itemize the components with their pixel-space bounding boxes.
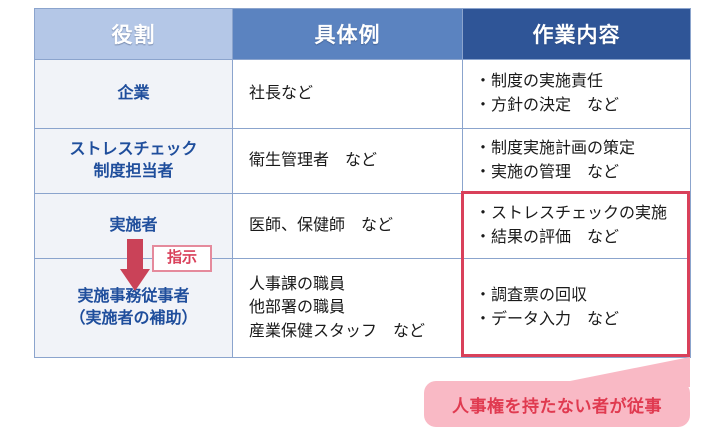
role-line: 企業 — [35, 83, 232, 105]
table-header: 役割 具体例 作業内容 — [35, 9, 691, 60]
callout-bubble: 人事権を持たない者が従事 — [424, 381, 690, 427]
example-cell: 医師、保健師 など — [233, 194, 463, 259]
instruction-label: 指示 — [152, 245, 212, 272]
role-responsibility-table: 役割 具体例 作業内容 企業 社長など ・制度の実施責任 ・方針の決定 など — [34, 8, 691, 358]
task-line: ・制度の実施責任 — [475, 70, 690, 94]
example-cell: 社長など — [233, 60, 463, 129]
arrow-head — [120, 269, 150, 291]
role-cell: ストレスチェック 制度担当者 — [35, 129, 233, 194]
column-header-example: 具体例 — [233, 9, 463, 60]
task-line: ・データ入力 など — [475, 308, 690, 332]
header-row: 役割 具体例 作業内容 — [35, 9, 691, 60]
task-line: ・実施の管理 など — [475, 161, 690, 185]
task-line: ・調査票の回収 — [475, 284, 690, 308]
example-line: 人事課の職員 — [249, 273, 462, 296]
role-cell: 企業 — [35, 60, 233, 129]
table-row: 企業 社長など ・制度の実施責任 ・方針の決定 など — [35, 60, 691, 129]
table-row: ストレスチェック 制度担当者 衛生管理者 など ・制度実施計画の策定 ・実施の管… — [35, 129, 691, 194]
example-cell: 人事課の職員 他部署の職員 産業保健スタッフ など — [233, 259, 463, 358]
task-cell: ・制度の実施責任 ・方針の決定 など — [463, 60, 691, 129]
role-line: ストレスチェック — [35, 139, 232, 161]
role-line: 実施者 — [35, 215, 232, 237]
diagram-canvas: 役割 具体例 作業内容 企業 社長など ・制度の実施責任 ・方針の決定 など — [0, 0, 724, 443]
example-line: 医師、保健師 など — [249, 214, 462, 237]
example-line: 他部署の職員 — [249, 296, 462, 319]
callout-text: 人事権を持たない者が従事 — [452, 392, 662, 417]
task-line: ・制度実施計画の策定 — [475, 137, 690, 161]
task-line: ・結果の評価 など — [475, 226, 690, 250]
role-line: （実施者の補助） — [35, 308, 232, 330]
example-line: 社長など — [249, 82, 462, 105]
table-body: 企業 社長など ・制度の実施責任 ・方針の決定 など ストレスチェック 制度担当… — [35, 60, 691, 358]
task-line: ・ストレスチェックの実施 — [475, 202, 690, 226]
example-line: 衛生管理者 など — [249, 149, 462, 172]
task-cell: ・制度実施計画の策定 ・実施の管理 など — [463, 129, 691, 194]
role-line: 制度担当者 — [35, 161, 232, 183]
example-cell: 衛生管理者 など — [233, 129, 463, 194]
task-cell: ・調査票の回収 ・データ入力 など — [463, 259, 691, 358]
task-line: ・方針の決定 など — [475, 94, 690, 118]
down-arrow-icon — [120, 239, 150, 291]
column-header-role: 役割 — [35, 9, 233, 60]
task-cell: ・ストレスチェックの実施 ・結果の評価 など — [463, 194, 691, 259]
arrow-shaft — [127, 239, 143, 271]
example-line: 産業保健スタッフ など — [249, 320, 462, 343]
column-header-task: 作業内容 — [463, 9, 691, 60]
